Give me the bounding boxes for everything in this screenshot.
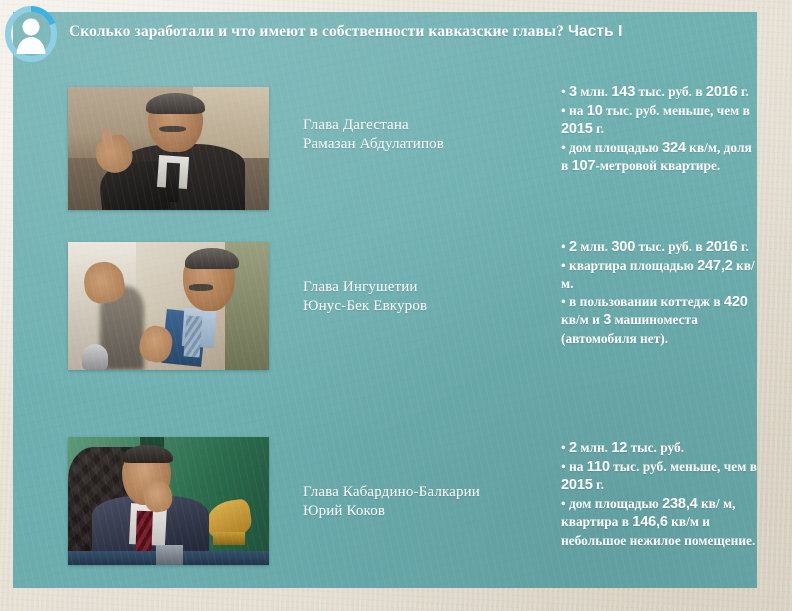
person-name-2: Глава Кабардино-Балкарии Юрий Коков [303,483,551,521]
fact-text: • дом площадью [561,496,662,511]
fact-line: • на 10 тыс. руб. меньше, чем в 2015 г. [561,102,757,139]
fact-text: тыс. руб. меньше, чем в [603,103,750,118]
person-photo-1 [68,242,269,370]
fact-number: 247,2 [697,258,733,274]
fact-number: 3 [569,84,577,100]
fact-line: • на 110 тыс. руб. меньше, чем в 2015 г. [561,458,757,495]
person-row: Глава Кабардино-Балкарии Юрий Коков • 2 … [13,425,757,588]
fact-number: 10 [587,103,603,119]
person-facts-1: • 2 млн. 300 тыс. руб. в 2016 г.• кварти… [561,238,757,348]
fact-text: тыс. руб. в [635,84,706,99]
fact-line: • квартира площадью 247,2 кв/м. [561,257,757,293]
person-facts-0: • 3 млн. 143 тыс. руб. в 2016 г.• на 10 … [561,83,757,176]
fact-number: 2016 [706,239,738,255]
fact-text: • на [561,103,587,118]
fact-line: • дом площадью 324 кв/м, доля в 107-метр… [561,139,757,176]
fact-number: 2015 [561,477,593,493]
fact-line: • в пользовании коттедж в 420 кв/м и 3 м… [561,293,757,348]
fact-line: • 3 млн. 143 тыс. руб. в 2016 г. [561,83,757,102]
fact-text: • [561,239,569,254]
person-photo-2 [68,437,269,565]
slide-panel: Сколько заработали и что имеют в собстве… [13,12,757,588]
person-row: Глава Ингушетии Юнус-Бек Евкуров • 2 млн… [13,230,757,402]
fact-text: тыс. руб. в [635,239,706,254]
fact-number: 12 [611,440,627,456]
fact-text: тыс. руб. [627,440,684,455]
fact-text: г. [593,121,604,136]
slide-header: Сколько заработали и что имеют в собстве… [13,12,757,58]
fact-text: • дом площадью [561,140,662,155]
fact-text: • квартира площадью [561,258,697,273]
fact-number: 143 [611,84,635,100]
fact-number: 2 [569,239,577,255]
fact-number: 3 [603,312,611,328]
person-facts-2: • 2 млн. 12 тыс. руб.• на 110 тыс. руб. … [561,439,757,550]
fact-text: млн. [577,84,611,99]
fact-number: 2 [569,440,577,456]
fact-text: кв/м и [561,312,603,327]
person-avatar-icon [5,6,57,62]
page-title-main: Сколько заработали и что имеют в собстве… [69,23,564,40]
fact-number: 300 [611,239,635,255]
fact-number: 2015 [561,121,593,137]
fact-text: • [561,440,569,455]
fact-number: 146,6 [632,514,668,530]
fact-text: г. [738,239,749,254]
fact-line: • 2 млн. 12 тыс. руб. [561,439,757,458]
person-name-1: Глава Ингушетии Юнус-Бек Евкуров [303,278,543,316]
fact-number: 238,4 [662,496,698,512]
fact-number: 420 [724,294,748,310]
fact-number: 2016 [706,84,738,100]
fact-text: млн. [577,440,611,455]
fact-line: • 2 млн. 300 тыс. руб. в 2016 г. [561,238,757,257]
fact-text: • в пользовании коттедж в [561,294,724,309]
person-photo-0 [68,87,269,210]
fact-text: -метровой квартире. [595,158,720,173]
fact-line: • дом площадью 238,4 кв/ м, квартира в 1… [561,495,757,550]
fact-text: • на [561,459,587,474]
fact-number: 324 [662,140,686,156]
fact-number: 110 [587,459,610,475]
person-row: Глава Дагестана Рамазан Абдулатипов • 3 … [13,75,757,225]
fact-text: г. [593,477,604,492]
fact-text: тыс. руб. меньше, чем в [610,459,757,474]
page-title-part: Часть I [568,23,623,40]
person-name-0: Глава Дагестана Рамазан Абдулатипов [303,116,543,154]
fact-text: г. [738,84,749,99]
page-title: Сколько заработали и что имеют в собстве… [69,23,729,41]
fact-number: 107 [572,158,596,174]
fact-text: • [561,84,569,99]
fact-text: млн. [577,239,611,254]
